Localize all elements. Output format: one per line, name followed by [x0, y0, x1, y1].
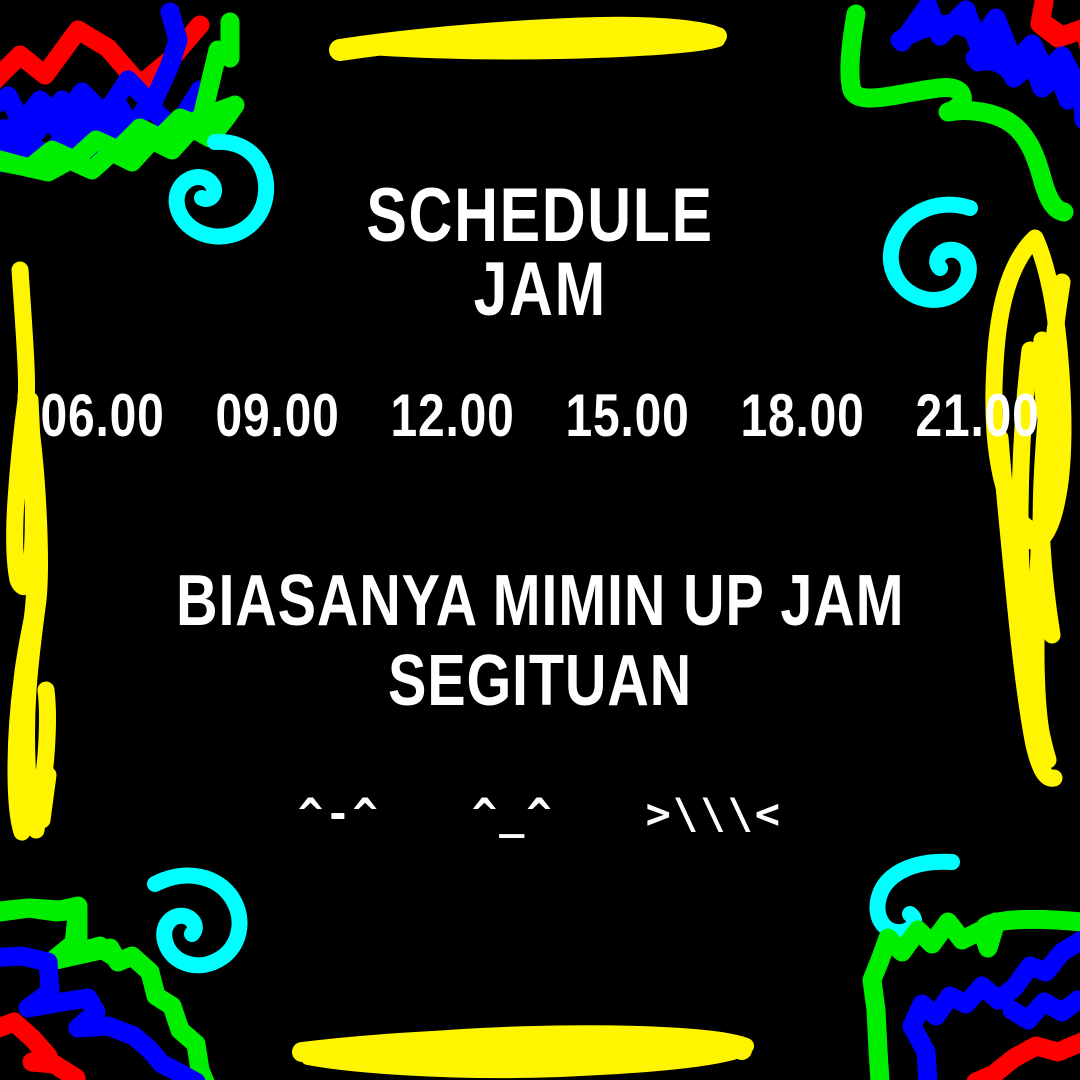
page-title-line-1: SCHEDULE: [0, 178, 1080, 254]
page-title-line-2: JAM: [0, 252, 1080, 328]
schedule-time-2: 09.00: [215, 386, 339, 446]
page-title-line-2-text: JAM: [473, 252, 606, 328]
page-title-line-1-text: SCHEDULE: [366, 178, 713, 254]
schedule-time-6: 21.00: [916, 386, 1040, 446]
poster-canvas: SCHEDULE JAM 06.0009.0012.0015.0018.0021…: [0, 0, 1080, 1080]
schedule-time-5: 18.00: [741, 386, 865, 446]
schedule-time-4: 15.00: [566, 386, 690, 446]
emoticon-3: >\\\<: [646, 793, 782, 835]
message-line-2-text: SEGITUAN: [388, 645, 692, 717]
message-line-2: SEGITUAN: [0, 645, 1080, 717]
schedule-times-row: 06.0009.0012.0015.0018.0021.00: [0, 386, 1080, 446]
emoticon-1: ^-^: [298, 793, 380, 835]
emoticon-2: ^_^: [472, 793, 554, 835]
content-layer: SCHEDULE JAM 06.0009.0012.0015.0018.0021…: [0, 0, 1080, 1080]
schedule-time-1: 06.00: [40, 386, 164, 446]
message-line-1-text: BIASANYA MIMIN UP JAM: [176, 565, 904, 637]
schedule-time-3: 12.00: [390, 386, 514, 446]
emoticon-row: ^-^^_^>\\\<: [0, 793, 1080, 835]
message-line-1: BIASANYA MIMIN UP JAM: [0, 565, 1080, 637]
